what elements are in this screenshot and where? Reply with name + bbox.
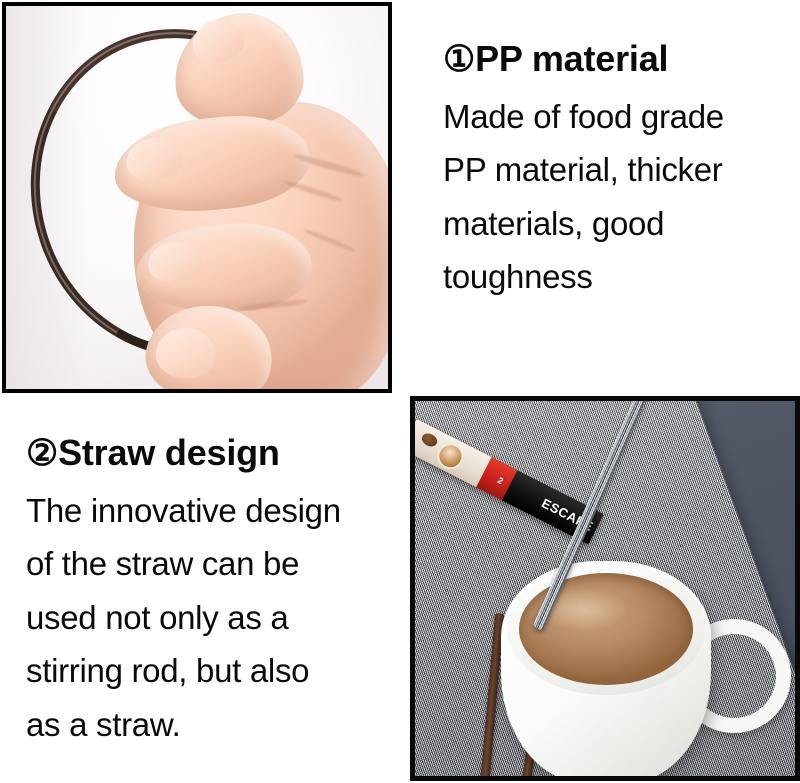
feature-body-pp-material: Made of food grade PP material, thicker … (443, 90, 795, 304)
feature-block-pp-material: ①PP material Made of food grade PP mater… (443, 38, 795, 304)
feature-block-straw-design: ②Straw design The innovative design of t… (26, 432, 408, 751)
feature-body-line: Made of food grade (443, 90, 795, 143)
hand-graphic (6, 6, 388, 389)
feature-body-line: stirring rod, but also (26, 644, 408, 697)
feature-body-line: materials, good (443, 197, 795, 250)
feature-body-line: PP material, thicker (443, 143, 795, 196)
feature-heading-straw-design: ②Straw design (26, 432, 408, 474)
photo-hand-bending-straw (2, 2, 392, 393)
feature-body-line: used not only as a (26, 591, 408, 644)
feature-body-line: of the straw can be (26, 537, 408, 590)
photo-mug-scene: 2 ESCAFE (415, 401, 795, 776)
feature-heading-pp-material: ①PP material (443, 38, 795, 80)
feature-body-line: as a straw. (26, 698, 408, 751)
packet-dose-label: 2 (494, 474, 507, 487)
feature-body-straw-design: The innovative design of the straw can b… (26, 484, 408, 751)
photo-mug-with-straw: 2 ESCAFE (410, 396, 800, 781)
feature-body-line: toughness (443, 250, 795, 303)
photo-hand-scene (6, 6, 388, 389)
feature-body-line: The innovative design (26, 484, 408, 537)
